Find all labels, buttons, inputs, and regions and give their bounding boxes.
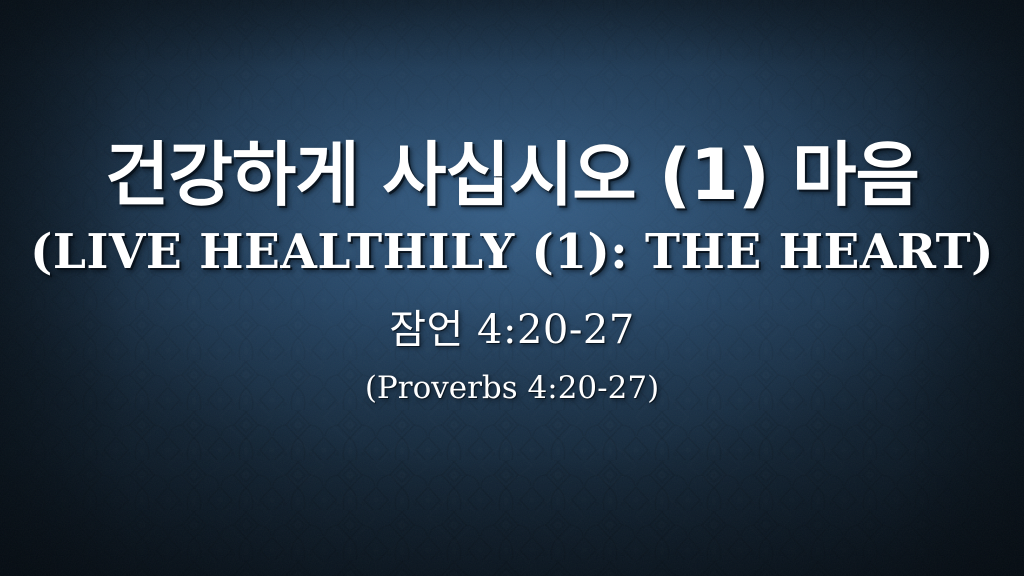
slide-content: 건강하게 사십시오 (1) 마음 (LIVE HEALTHILY (1): TH… [0,0,1024,576]
slide-title-korean: 건강하게 사십시오 (1) 마음 [0,140,1024,210]
scripture-reference-english: (Proverbs 4:20-27) [0,373,1024,404]
slide-title-english: (LIVE HEALTHILY (1): THE HEART) [10,228,1014,276]
title-slide: 건강하게 사십시오 (1) 마음 (LIVE HEALTHILY (1): TH… [0,0,1024,576]
scripture-reference-korean: 잠언 4:20-27 [0,310,1024,350]
